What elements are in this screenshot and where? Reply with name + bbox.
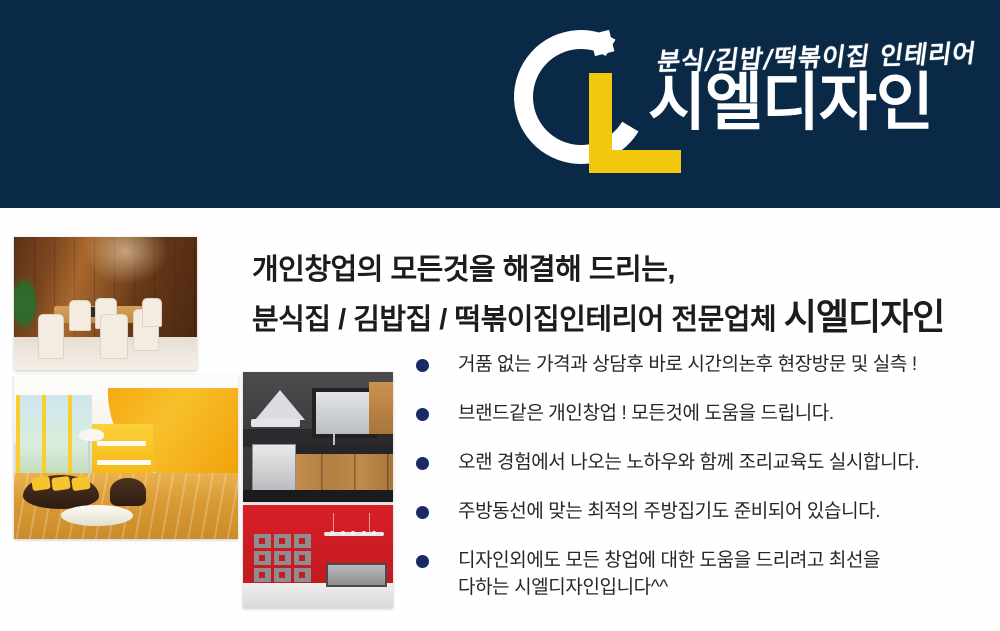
- list-item-label: 오랜 경험에서 나오는 노하우와 함께 조리교육도 실시합니다.: [458, 452, 919, 473]
- letter-l-horizontal: [589, 150, 681, 173]
- list-item: 주방동선에 맞는 최적의 주방집기도 준비되어 있습니다.: [416, 499, 982, 526]
- list-item: 디자인외에도 모든 창업에 대한 도움을 드리려고 최선을 다하는 시엘디자인입…: [416, 548, 982, 602]
- list-item-label: 디자인외에도 모든 창업에 대한 도움을 드리려고 최선을 다하는 시엘디자인입…: [458, 550, 880, 598]
- photo-kitchen: [243, 372, 393, 502]
- bullet-dot-icon: [416, 359, 429, 372]
- list-item-label: 브랜드같은 개인창업 ! 모든것에 도움을 드립니다.: [458, 403, 834, 424]
- list-item-label: 거품 없는 가격과 상담후 바로 시간의논후 현장방문 및 실측 !: [458, 354, 917, 375]
- headline-brand-name: 시엘디자인: [784, 296, 945, 337]
- logo-brand-name: 시엘디자인: [648, 72, 933, 135]
- bullet-dot-icon: [416, 555, 429, 568]
- headline-line-2: 분식집 / 김밥집 / 떡볶이집인테리어 전문업체 시엘디자인: [252, 291, 982, 342]
- bullet-dot-icon: [416, 457, 429, 470]
- list-item: 오랜 경험에서 나오는 노하우와 함께 조리교육도 실시합니다.: [416, 450, 982, 477]
- photo-meeting-room: [14, 237, 197, 370]
- list-item: 브랜드같은 개인창업 ! 모든것에 도움을 드립니다.: [416, 401, 982, 428]
- photo-yellow-lounge: [14, 375, 238, 539]
- list-item: 거품 없는 가격과 상담후 바로 시간의논후 현장방문 및 실측 !: [416, 352, 982, 379]
- photo-red-living-room: [243, 505, 393, 608]
- headline-line-1: 개인창업의 모든것을 해결해 드리는,: [252, 250, 982, 291]
- letter-c-terminal: [590, 30, 615, 56]
- promo-banner: 분식/김밥/떡볶이집 인테리어 시엘디자인: [0, 0, 1000, 631]
- bullet-dot-icon: [416, 408, 429, 421]
- feature-list: 거품 없는 가격과 상담후 바로 시간의논후 현장방문 및 실측 ! 브랜드같은…: [416, 352, 982, 602]
- bullet-dot-icon: [416, 506, 429, 519]
- headline-line-2-text: 분식집 / 김밥집 / 떡볶이집인테리어 전문업체: [252, 304, 784, 336]
- list-item-label: 주방동선에 맞는 최적의 주방집기도 준비되어 있습니다.: [458, 501, 880, 522]
- header-bar: 분식/김밥/떡볶이집 인테리어 시엘디자인: [0, 0, 1000, 208]
- page-headline: 개인창업의 모든것을 해결해 드리는, 분식집 / 김밥집 / 떡볶이집인테리어…: [252, 250, 982, 342]
- brand-logo: 분식/김밥/떡볶이집 인테리어 시엘디자인: [506, 26, 976, 186]
